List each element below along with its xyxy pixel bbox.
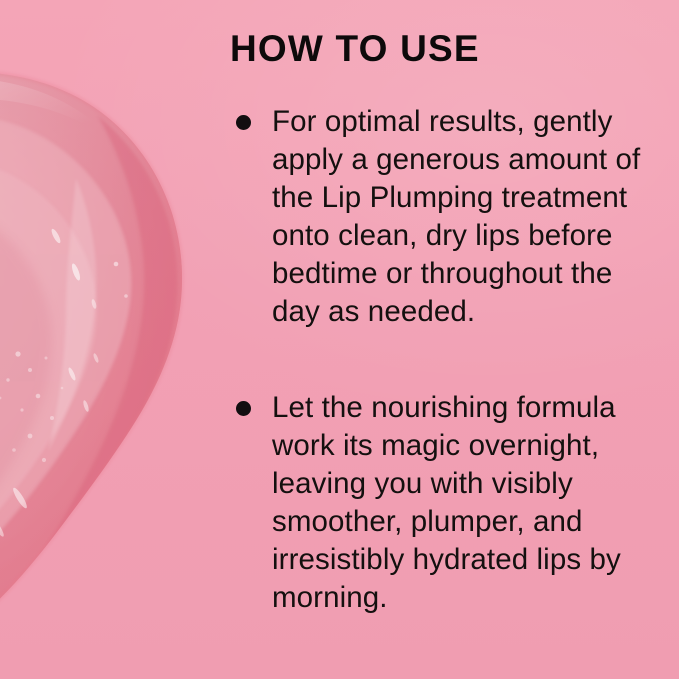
instruction-list: For optimal results, gently apply a gene… <box>228 103 658 617</box>
list-item: For optimal results, gently apply a gene… <box>228 103 658 331</box>
instructions-content: HOW TO USE For optimal results, gently a… <box>228 30 658 617</box>
page-title: HOW TO USE <box>230 30 658 69</box>
bullet-dot-icon <box>236 115 251 130</box>
list-item: Let the nourishing formula work its magi… <box>228 389 658 617</box>
list-item-text: For optimal results, gently apply a gene… <box>272 103 658 331</box>
product-instructions-card: HOW TO USE For optimal results, gently a… <box>0 0 679 679</box>
bullet-dot-icon <box>236 401 251 416</box>
list-item-text: Let the nourishing formula work its magi… <box>272 389 658 617</box>
